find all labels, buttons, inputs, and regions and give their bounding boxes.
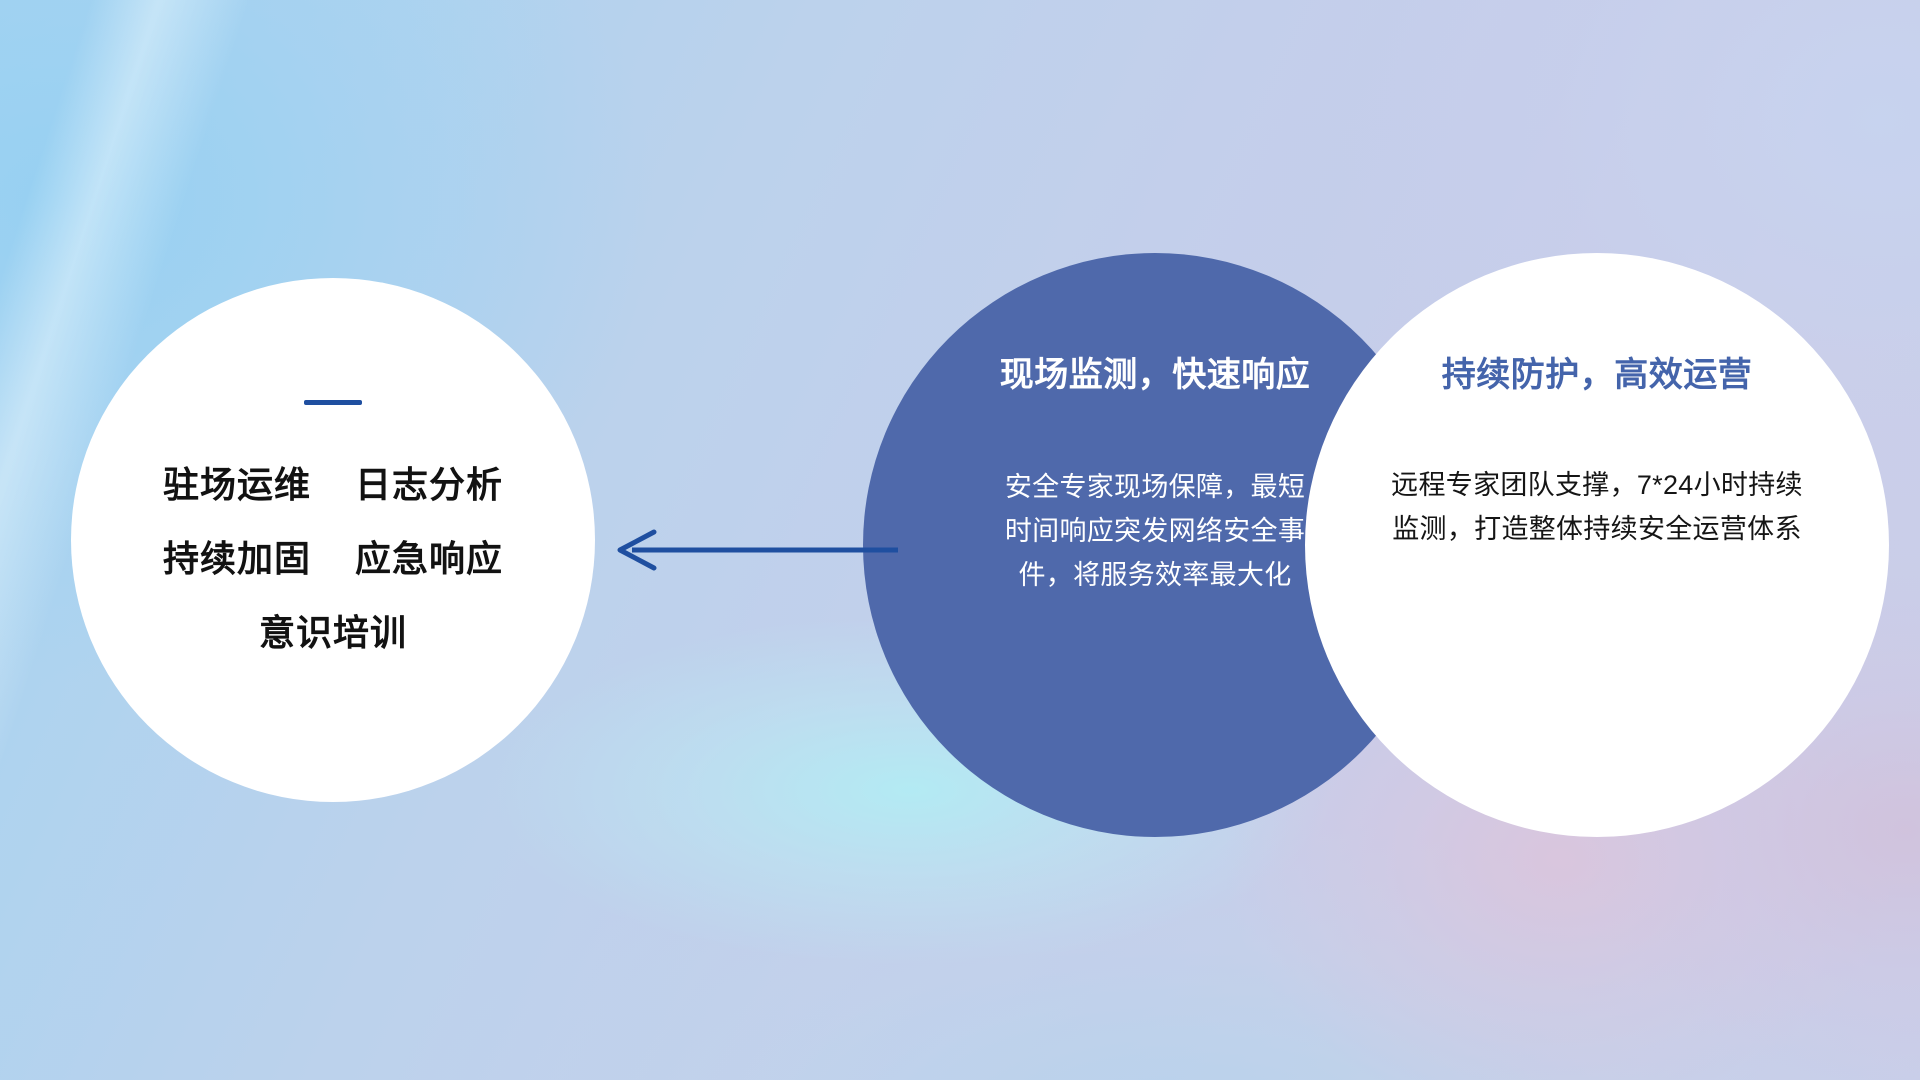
left-card-line-1: 驻场运维 日志分析: [163, 467, 503, 503]
arrow-left-svg: [610, 520, 900, 580]
left-card-content: 驻场运维 日志分析 持续加固 应急响应 意识培训: [71, 278, 595, 802]
left-card-line-3: 意识培训: [259, 615, 407, 651]
left-card-divider: [304, 400, 362, 405]
slide-canvas: 驻场运维 日志分析 持续加固 应急响应 意识培训 现场监测，快速响应 安全专家现…: [0, 0, 1920, 1080]
arrow-left-icon: [610, 520, 900, 580]
left-card-line-2: 持续加固 应急响应: [163, 541, 503, 577]
right-circle-shape: [1305, 253, 1889, 837]
